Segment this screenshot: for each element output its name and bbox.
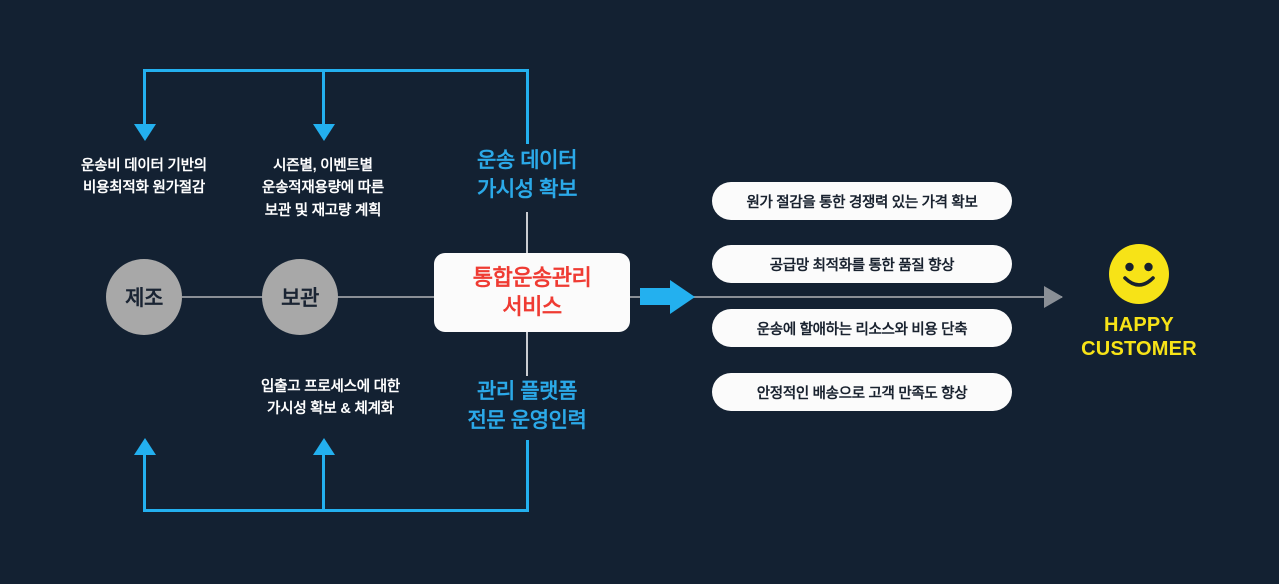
benefit-pill-4[interactable]: 안정적인 배송으로 고객 만족도 향상 (712, 373, 1012, 411)
top-feedback-right-riser (526, 69, 529, 144)
core-service-card[interactable]: 통합운송관리 서비스 (434, 253, 630, 332)
benefit-pill-2[interactable]: 공급망 최적화를 통한 품질 향상 (712, 245, 1012, 283)
service-top-connector (526, 212, 528, 254)
service-to-benefits-arrow-shaft (640, 288, 672, 305)
blue-label-bottom: 관리 플랫폼 전문 운영인력 (427, 378, 627, 436)
benefit-pill-3-label: 운송에 할애하는 리소스와 비용 단축 (757, 318, 968, 339)
top-feedback-branch-2-line (322, 69, 325, 126)
bottom-feedback-horizontal-line (143, 509, 529, 512)
benefit-pill-3[interactable]: 운송에 할애하는 리소스와 비용 단축 (712, 309, 1012, 347)
flow-end-arrow-icon (1044, 286, 1063, 308)
stage-circle-storage-label: 보관 (281, 282, 319, 312)
bottom-feedback-branch-1-arrow-icon (134, 438, 156, 455)
top-feedback-branch-1-arrow-icon (134, 124, 156, 141)
smiley-face-icon (1109, 244, 1169, 304)
stage-circle-manufacturing-label: 제조 (125, 282, 163, 312)
service-to-benefits-arrow-icon (670, 280, 695, 314)
benefit-pill-1[interactable]: 원가 절감을 통한 경쟁력 있는 가격 확보 (712, 182, 1012, 220)
stage-circle-manufacturing[interactable]: 제조 (106, 259, 182, 335)
bottom-feedback-branch-2-line (322, 454, 325, 512)
bottom-feedback-branch-2-arrow-icon (313, 438, 335, 455)
top-feedback-branch-1-line (143, 69, 146, 126)
stage-circle-storage[interactable]: 보관 (262, 259, 338, 335)
upper-note-1: 운송비 데이터 기반의 비용최적화 원가절감 (49, 155, 239, 200)
bottom-feedback-branch-1-line (143, 454, 146, 512)
blue-label-top: 운송 데이터 가시성 확보 (427, 147, 627, 205)
happy-customer-label: HAPPY CUSTOMER (1068, 313, 1210, 362)
happy-customer-group: HAPPY CUSTOMER (1068, 244, 1210, 362)
benefit-pill-4-label: 안정적인 배송으로 고객 만족도 향상 (757, 382, 968, 403)
bottom-feedback-right-riser (526, 440, 529, 512)
core-service-title: 통합운송관리 서비스 (473, 264, 591, 320)
lower-note-1: 입출고 프로세스에 대한 가시성 확보 & 체계화 (233, 376, 428, 421)
service-bottom-connector (526, 332, 528, 376)
benefit-pill-2-label: 공급망 최적화를 통한 품질 향상 (770, 254, 954, 275)
diagram-canvas: 운송비 데이터 기반의 비용최적화 원가절감 시즌별, 이벤트별 운송적재용량에… (0, 0, 1279, 584)
top-feedback-branch-2-arrow-icon (313, 124, 335, 141)
top-feedback-horizontal-line (143, 69, 529, 72)
benefit-pill-1-label: 원가 절감을 통한 경쟁력 있는 가격 확보 (746, 191, 977, 212)
upper-note-2: 시즌별, 이벤트별 운송적재용량에 따른 보관 및 재고량 계획 (228, 155, 418, 222)
